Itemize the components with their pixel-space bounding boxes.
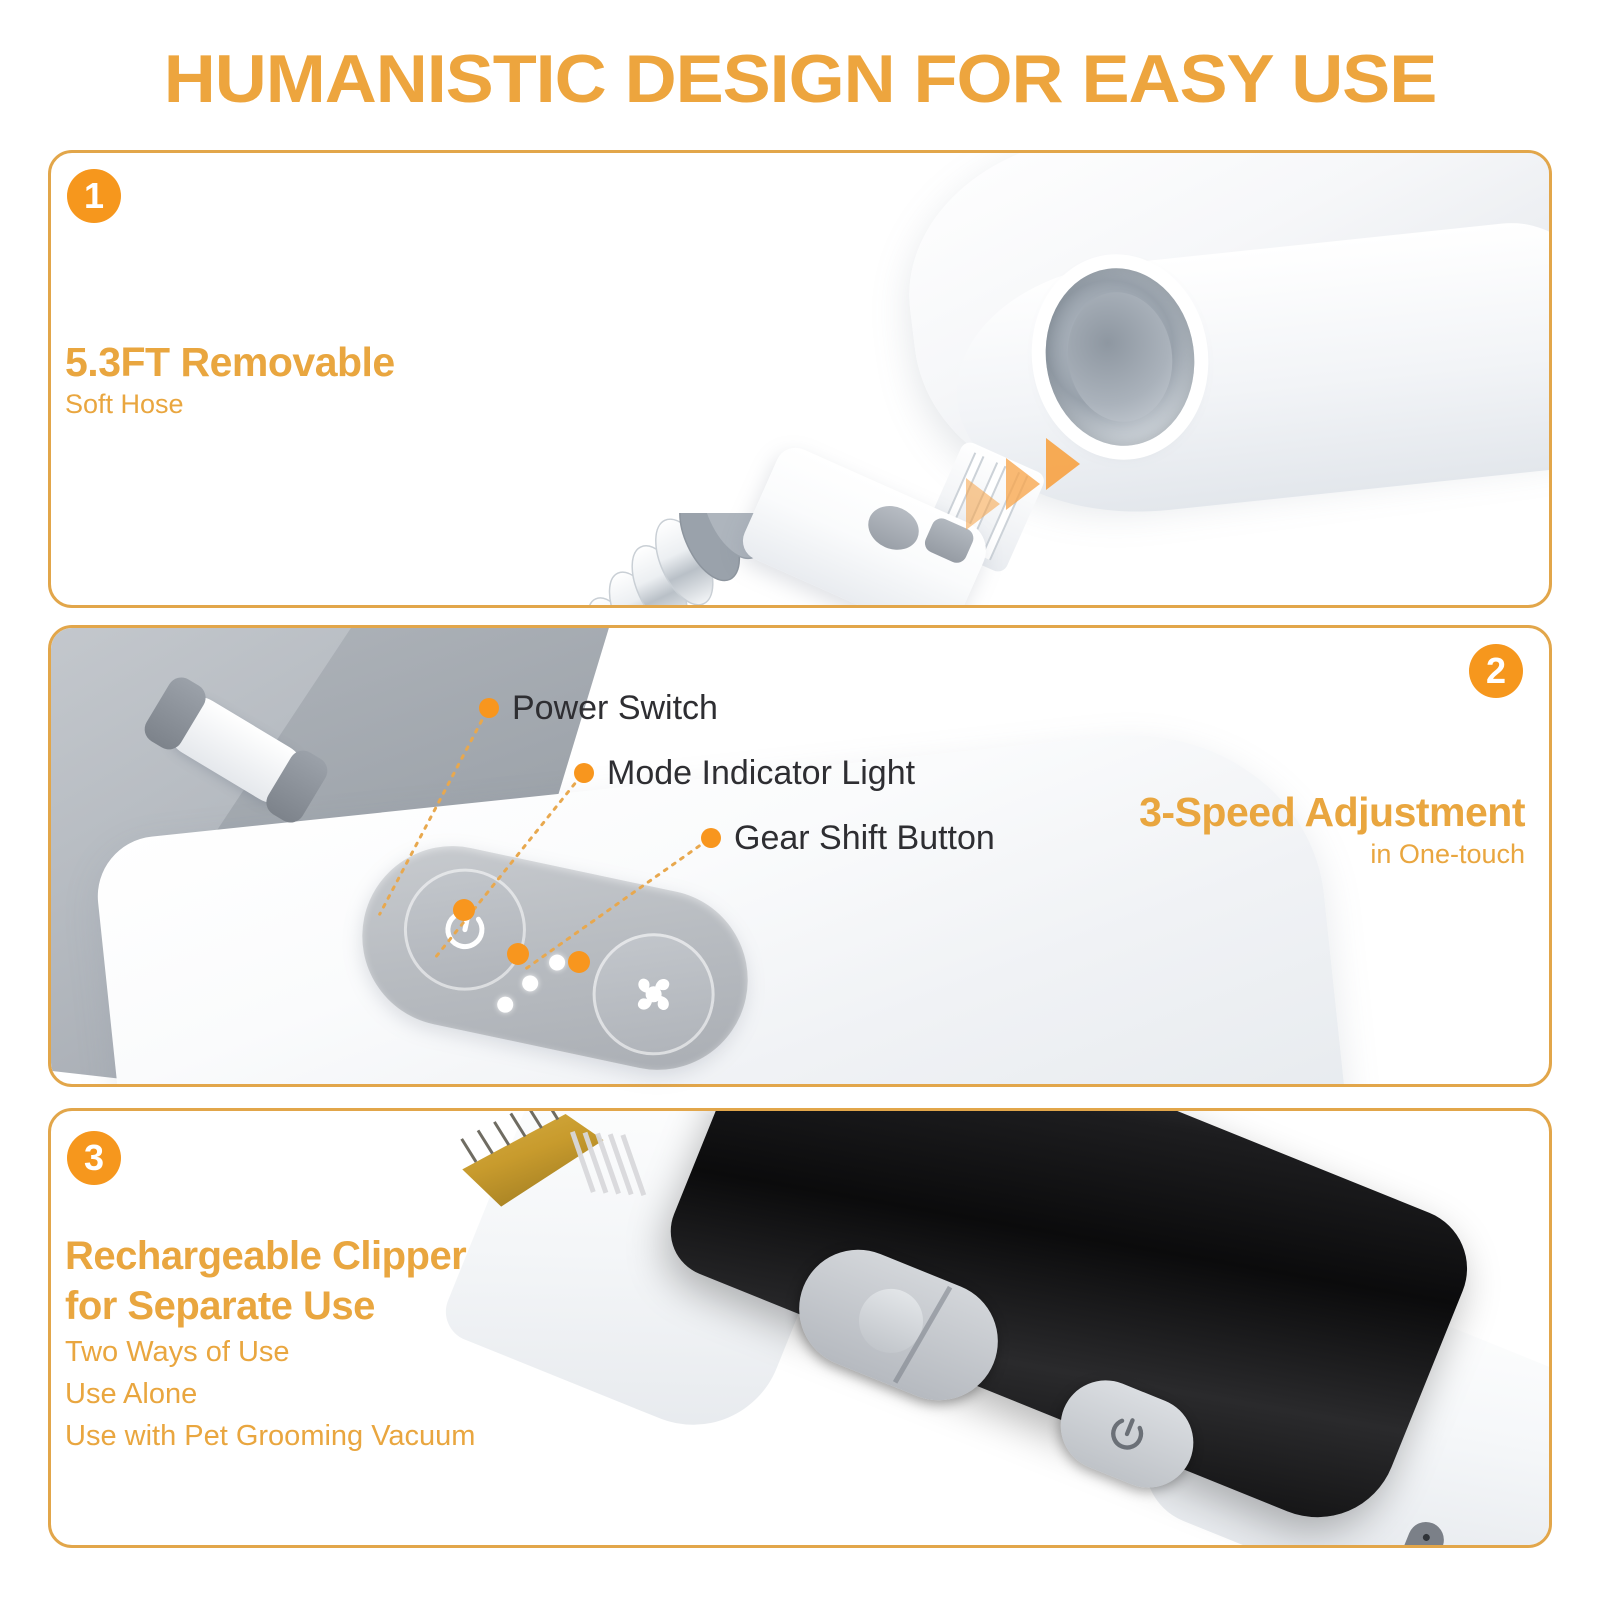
callout-gear-shift: Gear Shift Button: [701, 820, 995, 856]
panel-3-subline-1: Two Ways of Use: [65, 1331, 475, 1373]
panel-1-headline: 5.3FT Removable: [65, 338, 395, 386]
insert-arrow-icon: [1046, 438, 1080, 490]
panel-2-text: 3-Speed Adjustment in One-touch: [1139, 788, 1525, 872]
insert-arrow-icon: [966, 478, 1000, 530]
gear-shift-button[interactable]: [581, 922, 726, 1067]
mode-indicator-led: [521, 974, 540, 993]
panel-2-headline: 3-Speed Adjustment: [1139, 788, 1525, 836]
panel-rechargeable-clipper: 3 Rechargeable Clipper for Separate Use …: [48, 1108, 1552, 1548]
panel-3-headline-line-2: for Separate Use: [65, 1281, 475, 1331]
callout-gear-shift-label: Gear Shift Button: [734, 820, 995, 856]
panel-badge-1: 1: [67, 169, 121, 223]
power-switch-button[interactable]: [393, 857, 538, 1002]
panel-3-subline-3: Use with Pet Grooming Vacuum: [65, 1415, 475, 1457]
callout-mode-indicator: Mode Indicator Light: [574, 755, 915, 791]
callout-dot-icon: [479, 698, 499, 718]
hose-release-knob: [861, 498, 926, 558]
callout-power-switch-label: Power Switch: [512, 690, 718, 726]
power-icon: [1093, 1400, 1161, 1468]
insert-arrow-icon: [1006, 458, 1040, 510]
callout-power-switch: Power Switch: [479, 690, 718, 726]
panel-speed-adjustment: Power Switch Mode Indicator Light Gear S…: [48, 625, 1552, 1087]
mode-indicator-led: [496, 995, 515, 1014]
page-title: HUMANISTIC DESIGN FOR EASY USE: [0, 42, 1600, 116]
panel-1-subline: Soft Hose: [65, 386, 395, 422]
fan-icon: [616, 956, 692, 1032]
panel-2-subline: in One-touch: [1139, 836, 1525, 872]
panel-3-subline-2: Use Alone: [65, 1373, 475, 1415]
panel-3-headline-line-1: Rechargeable Clipper: [65, 1231, 475, 1281]
panel-1-text: 5.3FT Removable Soft Hose: [65, 338, 395, 422]
panel-badge-2: 2: [1469, 644, 1523, 698]
anchor-dot-power-switch: [453, 899, 475, 921]
panel-3-text: Rechargeable Clipper for Separate Use Tw…: [65, 1231, 475, 1457]
callout-mode-indicator-label: Mode Indicator Light: [607, 755, 915, 791]
panel-badge-3: 3: [67, 1131, 121, 1185]
callout-dot-icon: [574, 763, 594, 783]
anchor-dot-mode-indicator: [507, 943, 529, 965]
panel-removable-hose: 1 5.3FT Removable Soft Hose: [48, 150, 1552, 608]
anchor-dot-gear-shift: [568, 951, 590, 973]
callout-dot-icon: [701, 828, 721, 848]
mode-indicator-led: [548, 953, 567, 972]
